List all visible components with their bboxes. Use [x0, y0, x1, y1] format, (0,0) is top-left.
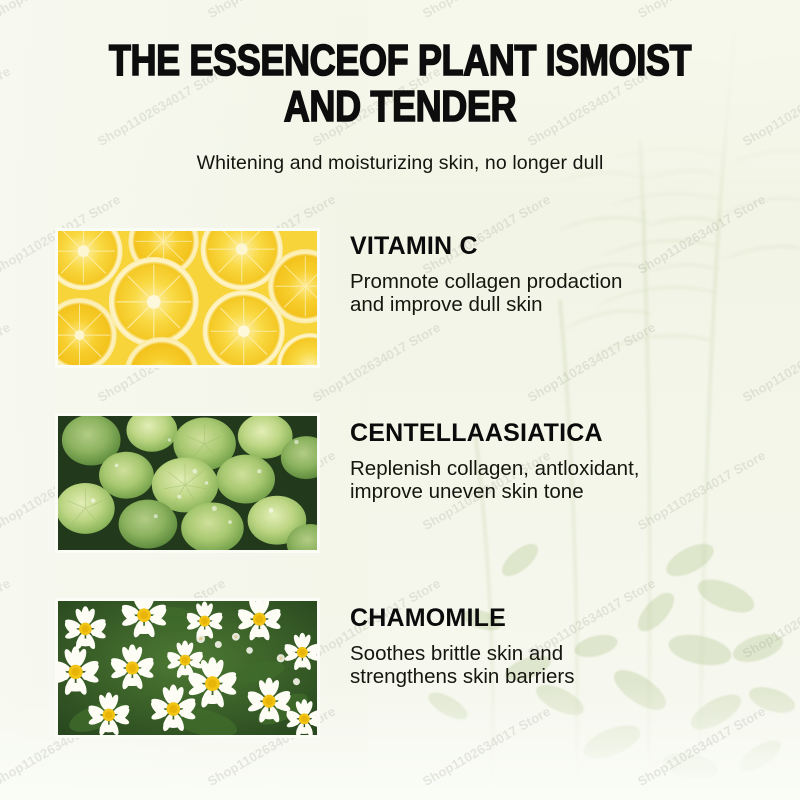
ingredient-row-vitamin-c: VITAMIN C Promnote collagen prodaction a… [55, 228, 745, 370]
ingredient-description-line-2: strengthens skin barriers [350, 665, 745, 688]
ingredient-description-line-1: Promnote collagen prodaction [350, 270, 745, 293]
page-subtitle: Whitening and moisturizing skin, no long… [0, 152, 800, 175]
page-title: THE ESSENCEOF PLANT ISMOIST AND TENDER [0, 38, 800, 130]
page-title-line-1: THE ESSENCEOF PLANT ISMOIST [72, 38, 728, 84]
ingredient-description-line-1: Soothes brittle skin and [350, 642, 745, 665]
ingredient-description-line-2: and improve dull skin [350, 293, 745, 316]
orange-slices-photo [55, 228, 320, 368]
ingredient-text-vitamin-c: VITAMIN C Promnote collagen prodaction a… [350, 232, 745, 316]
ingredient-text-centella-asiatica: CENTELLAASIATICA Replenish collagen, ant… [350, 419, 745, 503]
ingredient-name: CHAMOMILE [350, 604, 745, 632]
ingredient-description-line-1: Replenish collagen, antloxidant, [350, 457, 745, 480]
ingredient-description: Replenish collagen, antloxidant, improve… [350, 457, 745, 503]
centella-leaves-photo [55, 413, 320, 553]
ingredient-name: CENTELLAASIATICA [350, 419, 745, 447]
ingredient-description-line-2: improve uneven skin tone [350, 480, 745, 503]
ingredient-name: VITAMIN C [350, 232, 745, 260]
ingredient-description: Soothes brittle skin and strengthens ski… [350, 642, 745, 688]
content-area: THE ESSENCEOF PLANT ISMOIST AND TENDER W… [0, 0, 800, 800]
ingredient-description: Promnote collagen prodaction and improve… [350, 270, 745, 316]
infographic-page: Shop1102634017 StoreShop1102634017 Store… [0, 0, 800, 800]
chamomile-flowers-photo [55, 598, 320, 738]
page-title-line-2: AND TENDER [72, 84, 728, 130]
ingredient-row-centella-asiatica: CENTELLAASIATICA Replenish collagen, ant… [55, 413, 745, 555]
ingredient-text-chamomile: CHAMOMILE Soothes brittle skin and stren… [350, 604, 745, 688]
ingredient-row-chamomile: CHAMOMILE Soothes brittle skin and stren… [55, 598, 745, 740]
